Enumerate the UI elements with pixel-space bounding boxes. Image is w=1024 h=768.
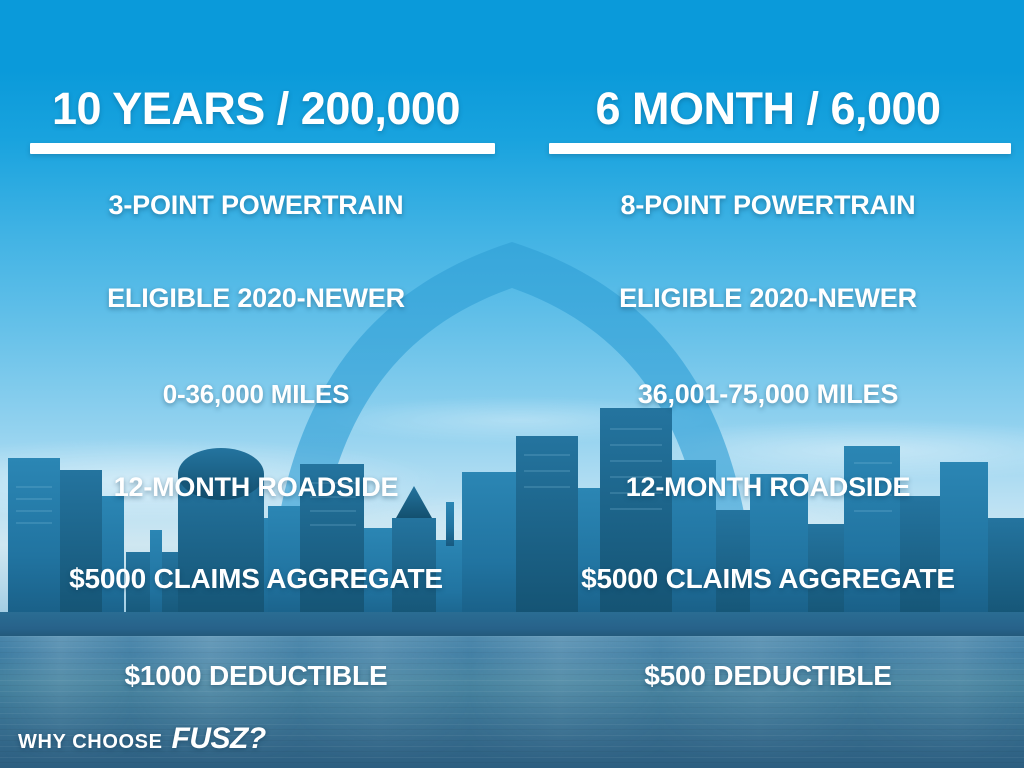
feature-deductible-right: $500 DEDUCTIBLE [512, 662, 1024, 690]
plan-heading-underline-right [549, 143, 1011, 154]
feature-deductible-left: $1000 DEDUCTIBLE [0, 662, 512, 690]
feature-powertrain-right: 8-POINT POWERTRAIN [512, 192, 1024, 219]
plan-heading-6-month: 6 MONTH / 6,000 [512, 86, 1024, 131]
brand-name: FUSZ? [172, 722, 266, 756]
plan-column-6-month: 6 MONTH / 6,000 8-POINT POWERTRAIN ELIGI… [512, 0, 1024, 768]
feature-claims-aggregate-left: $5000 CLAIMS AGGREGATE [0, 565, 512, 593]
warranty-comparison-graphic: 10 YEARS / 200,000 3-POINT POWERTRAIN EL… [0, 0, 1024, 768]
plan-column-10-year: 10 YEARS / 200,000 3-POINT POWERTRAIN EL… [0, 0, 512, 768]
feature-roadside-right: 12-MONTH ROADSIDE [512, 474, 1024, 501]
feature-mileage-left: 0-36,000 MILES [0, 381, 512, 407]
feature-roadside-left: 12-MONTH ROADSIDE [0, 474, 512, 501]
feature-eligibility-left: ELIGIBLE 2020-NEWER [0, 285, 512, 312]
feature-claims-aggregate-right: $5000 CLAIMS AGGREGATE [512, 565, 1024, 593]
brand-tagline: WHY CHOOSE [18, 731, 163, 754]
feature-mileage-right: 36,001-75,000 MILES [512, 381, 1024, 408]
brand-logo: WHY CHOOSE FUSZ? [18, 722, 266, 756]
feature-eligibility-right: ELIGIBLE 2020-NEWER [512, 285, 1024, 312]
plan-heading-10-year: 10 YEARS / 200,000 [0, 86, 512, 131]
comparison-content: 10 YEARS / 200,000 3-POINT POWERTRAIN EL… [0, 0, 1024, 768]
feature-powertrain-left: 3-POINT POWERTRAIN [0, 192, 512, 219]
plan-heading-underline-left [30, 143, 495, 154]
